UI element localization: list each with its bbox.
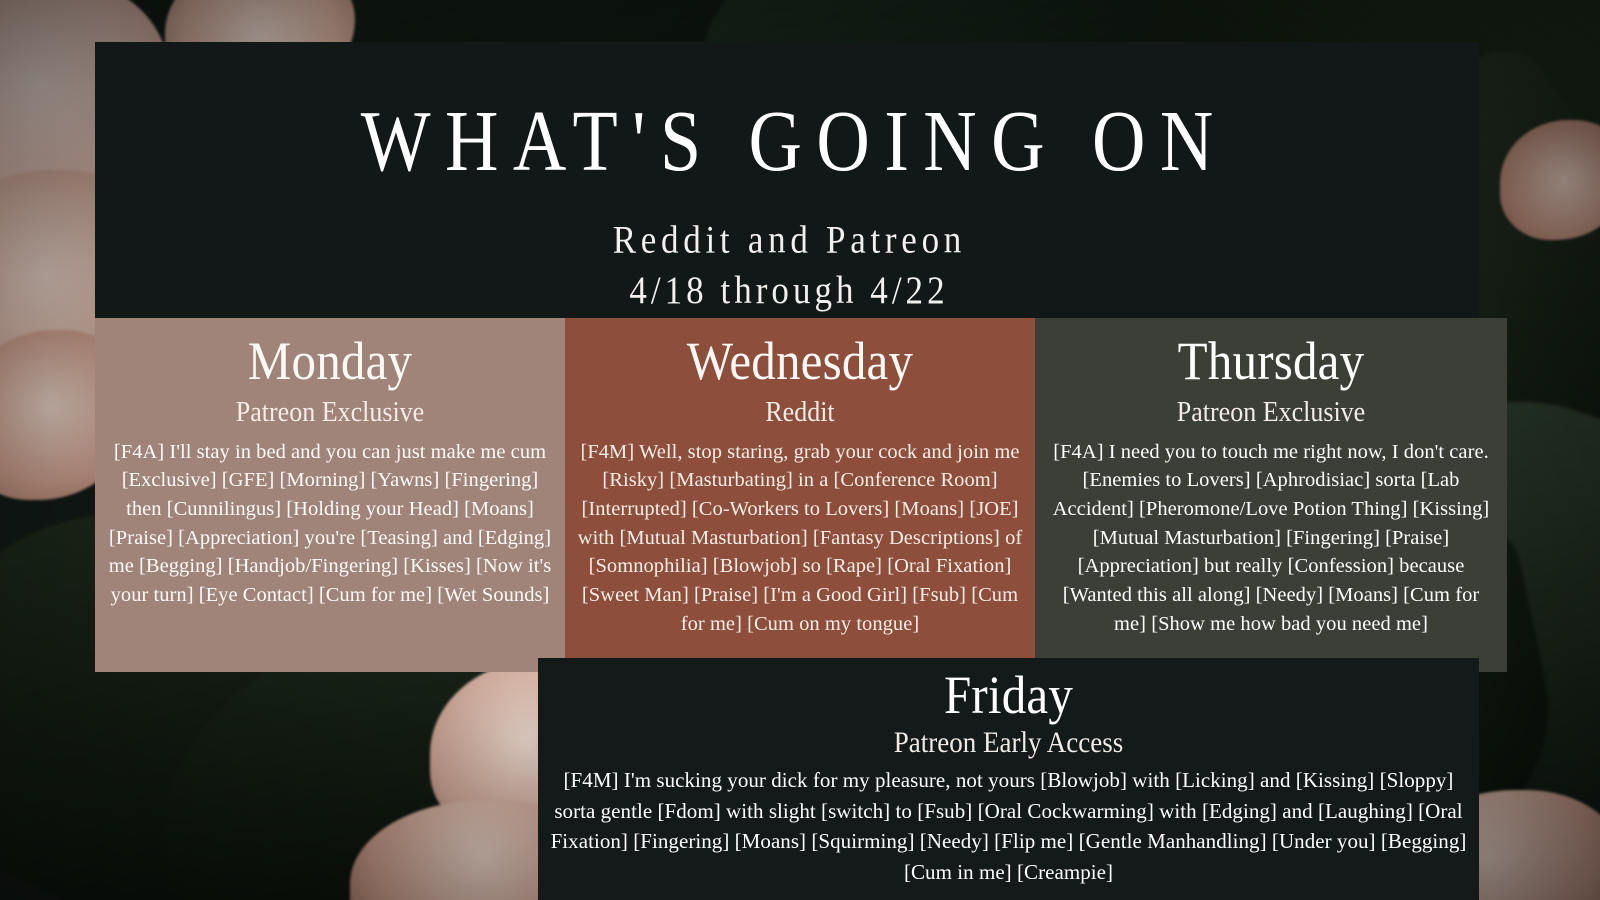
day-description: [F4A] I need you to touch me right now, … xyxy=(1045,438,1497,639)
page-title: WHAT'S GOING ON xyxy=(346,98,1227,185)
subtitle-platforms: Reddit and Patreon xyxy=(608,218,966,262)
day-card-monday: Monday Patreon Exclusive [F4A] I'll stay… xyxy=(95,318,565,672)
day-platform: Patreon Exclusive xyxy=(1045,397,1497,428)
header-panel: WHAT'S GOING ON Reddit and Patreon 4/18 … xyxy=(95,42,1479,325)
day-platform: Reddit xyxy=(575,397,1025,428)
day-title: Friday xyxy=(550,668,1467,724)
header-subtitle: Reddit and Patreon 4/18 through 4/22 xyxy=(608,218,966,308)
day-card-wednesday: Wednesday Reddit [F4M] Well, stop starin… xyxy=(565,318,1035,672)
subtitle-date-range: 4/18 through 4/22 xyxy=(608,267,966,313)
day-card-thursday: Thursday Patreon Exclusive [F4A] I need … xyxy=(1035,318,1507,672)
day-platform: Patreon Exclusive xyxy=(105,397,555,428)
day-description: [F4A] I'll stay in bed and you can just … xyxy=(105,438,555,610)
day-card-friday: Friday Patreon Early Access [F4M] I'm su… xyxy=(538,658,1479,900)
day-description: [F4M] Well, stop staring, grab your cock… xyxy=(575,438,1025,639)
day-title: Wednesday xyxy=(575,334,1025,390)
day-platform: Patreon Early Access xyxy=(550,727,1467,759)
day-title: Thursday xyxy=(1045,334,1497,390)
day-title: Monday xyxy=(105,334,555,390)
day-description: [F4M] I'm sucking your dick for my pleas… xyxy=(550,765,1467,888)
